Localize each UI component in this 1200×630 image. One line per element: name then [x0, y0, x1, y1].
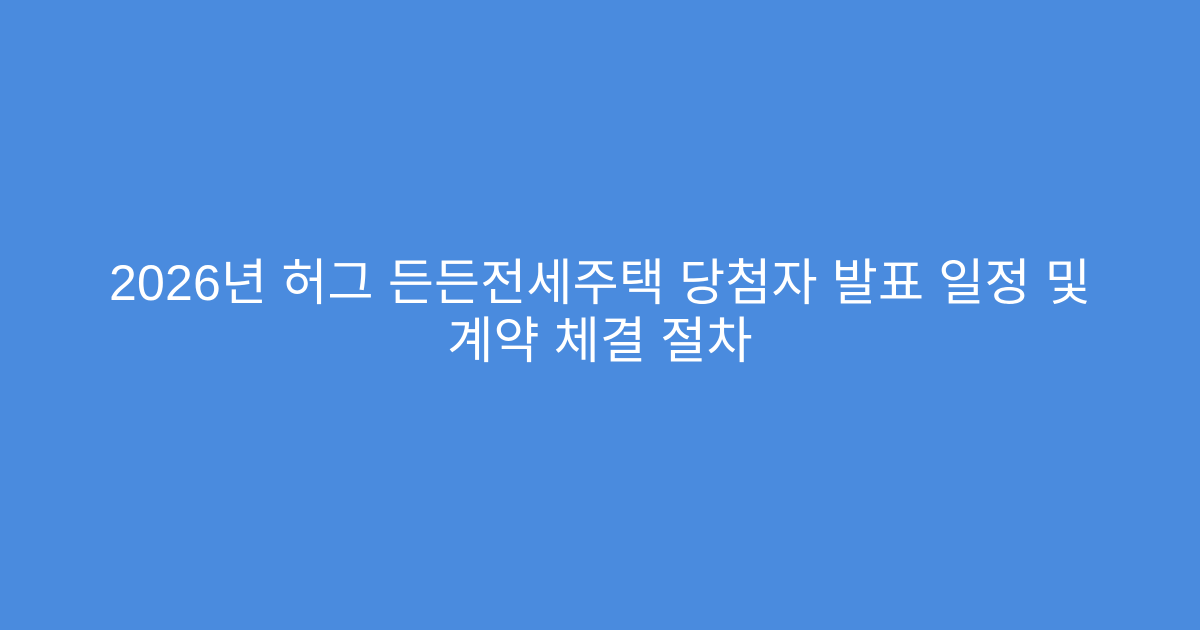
title-block: 2026년 허그 든든전세주택 당첨자 발표 일정 및 계약 체결 절차 — [95, 254, 1105, 370]
page-title: 2026년 허그 든든전세주택 당첨자 발표 일정 및 계약 체결 절차 — [103, 254, 1097, 370]
share-card-canvas: 2026년 허그 든든전세주택 당첨자 발표 일정 및 계약 체결 절차 — [0, 0, 1200, 630]
